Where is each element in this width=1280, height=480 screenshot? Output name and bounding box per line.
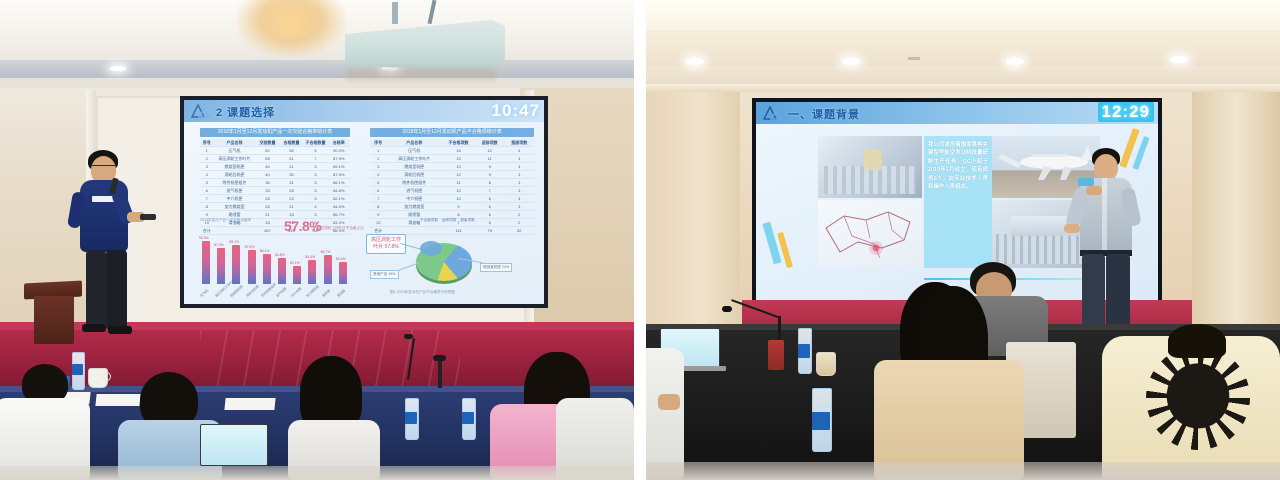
presenter-right-hand (1086, 186, 1102, 195)
table-cell: 15 (442, 156, 475, 161)
table-cell: 12 (475, 148, 505, 153)
table-cell: 3 (370, 164, 386, 169)
slide-title: 2 课题选择 (216, 104, 275, 120)
table-cell: 10 (442, 196, 475, 201)
water-bottle-label (405, 412, 417, 424)
projector-mount-rod (392, 2, 398, 24)
table-cell: 21 (280, 204, 304, 209)
table-row: 5附件机匣组件1183 (370, 179, 534, 187)
table-header-row: 序号产品名称交验数量合格数量不合格数量合格率 (200, 139, 350, 147)
slide-clock: 12:29 (1098, 102, 1154, 122)
table-cell: 4 (200, 172, 214, 177)
foreground-floor (646, 462, 1280, 480)
table-cell: 中介机匣 (386, 196, 442, 202)
table-header-cell: 序号 (200, 140, 214, 146)
ceiling-downlight (842, 58, 860, 65)
presenter-shoe-left (82, 324, 106, 332)
table-cell: 3 (200, 164, 214, 169)
shirt-placket (1102, 178, 1107, 252)
left-projection-screen-frame: 2 课题选择 10:47 2018年1月至12月发动机产品一次交验合格率统计表 … (180, 96, 548, 308)
bar (263, 254, 271, 284)
pie-label-third: 燃烧室机匣 24% (480, 263, 512, 272)
table-cell: 8 (475, 180, 505, 185)
panel-gutter (634, 0, 646, 480)
table-row: 5附件机匣组件3631586.1% (200, 179, 350, 187)
table-cell: 56 (280, 148, 304, 153)
table-cell: 4 (304, 204, 328, 209)
table-cell: 9 (475, 164, 505, 169)
table-cell: 87.9% (328, 156, 351, 161)
table-cell: 9 (370, 212, 386, 217)
table-cell: 1 (200, 148, 214, 153)
table-row: 4涡轮后机匣4035587.5% (200, 171, 350, 179)
table-header-cell: 不合格数量 (304, 140, 328, 146)
bar (248, 250, 256, 285)
table-header-cell: 合格率 (328, 140, 351, 146)
table-cell: 31 (280, 180, 304, 185)
table-cell: 2 (370, 156, 386, 161)
mountain-triangle-logo (190, 104, 210, 118)
presenter-left-hand (1064, 224, 1080, 233)
table-cell: 6 (370, 188, 386, 193)
table-cell: 87.5% (328, 172, 351, 177)
table-cell: 23 (280, 196, 304, 201)
table-cell: 8 (200, 204, 214, 209)
table-cell: 7 (304, 156, 328, 161)
microphone (1078, 178, 1094, 186)
table-cell: 4 (504, 156, 534, 161)
legend-item-1: 不合格项数 (420, 218, 438, 222)
water-bottle-label (462, 412, 474, 424)
table-cell: 18 (280, 212, 304, 217)
bar (278, 258, 286, 284)
presenter-shoe-right (108, 326, 132, 334)
table-cell: 8 (442, 212, 475, 217)
table-cell: 合计 (370, 228, 386, 234)
bar-category-label: 进气机匣 (275, 286, 288, 298)
bar-chart-caption: 2018年各月产品一次交验合格率 (200, 218, 251, 223)
bar (339, 262, 347, 284)
microphone-head (433, 355, 446, 361)
table-row: 8加力燃烧室963 (370, 203, 534, 211)
table-cell: 3 (504, 172, 534, 177)
table-cell: 5 (304, 172, 328, 177)
water-bottle-label (812, 412, 830, 430)
table-cell: 9 (442, 204, 475, 209)
photo-route-network-map (818, 200, 922, 268)
table-cell: 4 (504, 148, 534, 153)
ceiling-downlight (1170, 56, 1188, 63)
table-cell: 高压涡轮工作叶片 (214, 156, 256, 162)
bar (293, 266, 301, 284)
two-panel-photo-composite: 2 课题选择 10:47 2018年1月至12月发动机产品一次交验合格率统计表 … (0, 0, 1280, 480)
bar-value-label: 87.5% (245, 245, 255, 249)
microphone-head (722, 306, 732, 312)
table-cell: 41 (280, 164, 304, 169)
bar-category-label: 滑油箱 (335, 288, 345, 298)
table-cell: 7 (200, 196, 214, 201)
audience-hand (658, 394, 680, 410)
table-cell: 7 (475, 188, 505, 193)
table-cell: 5 (304, 196, 328, 201)
table-header-cell: 报废项数 (504, 140, 534, 146)
bar-value-label: 86.1% (260, 249, 270, 253)
water-bottle-label (72, 364, 83, 375)
table-cell: 58 (256, 156, 280, 161)
table-cell: 加力燃烧室 (386, 204, 442, 210)
table-cell: 33 (256, 188, 280, 193)
audience-hair (1168, 324, 1226, 358)
audience-shirt (646, 348, 684, 480)
glasses-icon (92, 165, 115, 170)
presenter-leg-left (86, 250, 106, 328)
table-cell: 5 (304, 188, 328, 193)
table-header-row: 序号产品名称不合格项数返修项数报废项数 (370, 139, 534, 147)
table-row: 6进气机匣1073 (370, 187, 534, 195)
pie-exploded-slice (420, 241, 442, 256)
table-cell: 进气机匣 (386, 188, 442, 194)
table-cell: 3 (504, 188, 534, 193)
table-cell: 涡轮后机匣 (386, 172, 442, 178)
table-cell: 高压涡轮工作叶片 (386, 156, 442, 162)
table-header-cell: 产品名称 (386, 140, 442, 146)
left-slide: 2 课题选择 10:47 2018年1月至12月发动机产品一次交验合格率统计表 … (184, 100, 544, 304)
table-header-cell: 不合格项数 (442, 140, 475, 146)
ceiling-downlight (1006, 58, 1024, 65)
water-bottle-label (798, 344, 810, 358)
table-cell: 25 (256, 204, 280, 209)
table-cell: 16 (442, 148, 475, 153)
microphone-stand (438, 360, 442, 388)
table-cell: 11 (442, 180, 475, 185)
table-cell: 加力燃烧室 (214, 204, 256, 210)
table-cell: 燃烧室机匣 (386, 164, 442, 170)
table-cell: 84.0% (328, 204, 351, 209)
bar-value-label: 90.3% (199, 236, 209, 240)
wall-cornice (646, 84, 1280, 92)
table-cell: 85.7% (328, 212, 351, 217)
table-cell: 6 (200, 188, 214, 193)
table-cell: 附件机匣组件 (386, 180, 442, 186)
presenter-head (1094, 154, 1118, 181)
ceiling-vent (908, 57, 920, 60)
table-cell: 82.1% (328, 196, 351, 201)
table-cell: 5 (304, 180, 328, 185)
ceiling-downlight (110, 66, 126, 71)
pie-label-other: 其他产品 18% (370, 270, 399, 279)
bar-chart: 90.3%压气机87.9%高压涡轮工作叶片89.1%燃烧室机匣87.5%涡轮后机… (198, 224, 354, 298)
table-header-cell: 合格数量 (280, 140, 304, 146)
foreground-floor (0, 466, 634, 480)
right-photo-panel: 一、课题背景 12:29 (646, 0, 1280, 480)
table-cell: 2 (504, 220, 534, 225)
table-cell: 压气机 (386, 148, 442, 154)
big-percent-note: 高压涡轮工作叶片不合格占比 (317, 226, 364, 231)
big-percent-label: 57.8% (284, 218, 321, 234)
table-cell: 79 (475, 228, 505, 233)
table-cell: 6 (475, 212, 505, 217)
table-cell: 1 (370, 148, 386, 153)
left-photo-panel: 2 课题选择 10:47 2018年1月至12月发动机产品一次交验合格率统计表 … (0, 0, 634, 480)
table-cell: 6 (475, 196, 505, 201)
table-left-caption: 2018年1月至12月发动机产品一次交验合格率统计表 (200, 128, 350, 137)
table-row: 3燃烧室机匣4641589.1% (200, 163, 350, 171)
table-cell: 21 (256, 212, 280, 217)
table-cell: 10 (370, 220, 386, 225)
table-right-caption: 2018年1月至12月发动机产品不合格项统计表 (370, 128, 534, 137)
table-cell: 11 (475, 156, 505, 161)
table-cell: 4 (504, 196, 534, 201)
table-cell: 10 (442, 188, 475, 193)
table-cell: 8 (370, 204, 386, 209)
table-cell: 51 (280, 156, 304, 161)
table-cell: 9 (475, 172, 505, 177)
bar (217, 248, 225, 284)
table-header-cell: 产品名称 (214, 140, 256, 146)
table-row: 2高压涡轮工作叶片15114 (370, 155, 534, 163)
table-cell: 3 (304, 212, 328, 217)
mountain-triangle-logo (762, 106, 782, 120)
bar-category-label: 燃烧室机匣 (229, 284, 244, 298)
table-cell: 40 (256, 172, 280, 177)
table-cell: 4 (504, 164, 534, 169)
table-cell: 压气机 (214, 148, 256, 154)
photo-factory-workshop (818, 136, 922, 198)
table-cell: 5 (370, 180, 386, 185)
table-cell: 84.8% (328, 188, 351, 193)
table-cell: 5 (200, 180, 214, 185)
slide-body-text: 我公司承担着国家某种关键型号航空发动机批量研制生产任务，QC小组于2019年1月… (924, 136, 992, 268)
podium-body (34, 296, 74, 344)
table-cell: 中介机匣 (214, 196, 256, 202)
microphone-head (404, 334, 413, 339)
table-row: 2高压涡轮工作叶片5851787.9% (200, 155, 350, 163)
slide-title: 一、课题背景 (788, 106, 860, 122)
legend-item-3: 报废项数 (460, 218, 474, 222)
accent-bar-cyan (762, 222, 781, 265)
table-cell: 62 (256, 148, 280, 153)
table-header-cell: 返修项数 (475, 140, 505, 146)
bar (232, 245, 240, 284)
table-cell: 进气机匣 (214, 188, 256, 194)
audience-hair (300, 356, 362, 430)
table-header-cell: 序号 (370, 140, 386, 146)
microphone-base (768, 340, 784, 370)
drink-cup (816, 352, 836, 376)
bar-value-label: 83.3% (336, 257, 346, 261)
table-cell: 尾喷管 (386, 212, 442, 218)
table-row: 6进气机匣3328584.8% (200, 187, 350, 195)
presenter-clicker (140, 214, 156, 220)
table-cell: 35 (280, 172, 304, 177)
bar-value-label: 87.9% (214, 243, 224, 247)
paper-sheet (95, 394, 140, 406)
bar-value-label: 84.0% (305, 255, 315, 259)
slide-clock: 10:47 (492, 101, 540, 121)
projector-shadow (346, 68, 496, 80)
table-cell: 2 (200, 156, 214, 161)
left-ceiling-cove (0, 60, 634, 78)
table-cell: 36 (256, 180, 280, 185)
table-cell: 附件机匣组件 (214, 180, 256, 186)
laptop-screen (200, 424, 268, 466)
table-row: 3燃烧室机匣1394 (370, 163, 534, 171)
table-cell: 燃烧室机匣 (214, 164, 256, 170)
table-row: 7中介机匣2823582.1% (200, 195, 350, 203)
ceiling-downlight (686, 58, 704, 65)
table-cell: 28 (280, 188, 304, 193)
table-row: 1压气机6256690.3% (200, 147, 350, 155)
table-cell: 90.3% (328, 148, 351, 153)
left-ceiling-cove-lower (0, 78, 634, 88)
table-cell: 89.1% (328, 164, 351, 169)
bar (324, 255, 332, 284)
chart-legend: 不合格项数 返修项数 报废项数 (420, 218, 475, 223)
table-cell: 3 (504, 204, 534, 209)
table-cell: 6 (475, 204, 505, 209)
table-cell: 6 (304, 148, 328, 153)
table-cell: 尾喷管 (214, 212, 256, 218)
bar (202, 241, 210, 284)
bar-category-label: 涡轮后机匣 (244, 284, 259, 298)
table-row: 4涡轮后机匣1293 (370, 171, 534, 179)
bar-category-label: 中介机匣 (290, 286, 303, 298)
table-cell: 46 (256, 164, 280, 169)
table-cell: 111 (442, 228, 475, 233)
table-cell: 7 (370, 196, 386, 201)
bar-value-label: 85.7% (321, 250, 331, 254)
table-cell: 5 (304, 164, 328, 169)
table-cell: 5 (475, 220, 505, 225)
table-cell: 9 (200, 212, 214, 217)
bar-value-label: 82.1% (290, 261, 300, 265)
legend-item-2: 返修项数 (442, 218, 456, 222)
table-cell: 3 (504, 180, 534, 185)
table-row: 8加力燃烧室2521484.0% (200, 203, 350, 211)
bar-category-label: 加力燃烧室 (305, 284, 320, 298)
bar-value-label: 84.8% (275, 253, 285, 257)
bar-category-label: 压气机 (199, 288, 209, 298)
pie-footnote: 图1 2018年发动机产品不合格项分布饼图 (390, 290, 455, 295)
table-cell: 涡轮后机匣 (214, 172, 256, 178)
bar-value-label: 89.1% (229, 240, 239, 244)
table-header-cell: 交验数量 (256, 140, 280, 146)
chandelier-glow (262, 6, 318, 40)
table-row: 1压气机16124 (370, 147, 534, 155)
bar (308, 260, 316, 284)
tea-cup-handle (103, 372, 111, 381)
table-cell: 12 (442, 172, 475, 177)
table-cell: 32 (504, 228, 534, 233)
paper-sheet (224, 398, 275, 410)
shirt-graphic-print (1146, 346, 1250, 450)
table-row: 7中介机匣1064 (370, 195, 534, 203)
bar-category-label: 尾喷管 (320, 288, 330, 298)
table-cell: 2 (504, 212, 534, 217)
table-cell: 4 (370, 172, 386, 177)
table-cell: 13 (442, 164, 475, 169)
table-cell: 86.1% (328, 180, 351, 185)
table-cell: 28 (256, 196, 280, 201)
presenter-leg-right (106, 250, 127, 330)
